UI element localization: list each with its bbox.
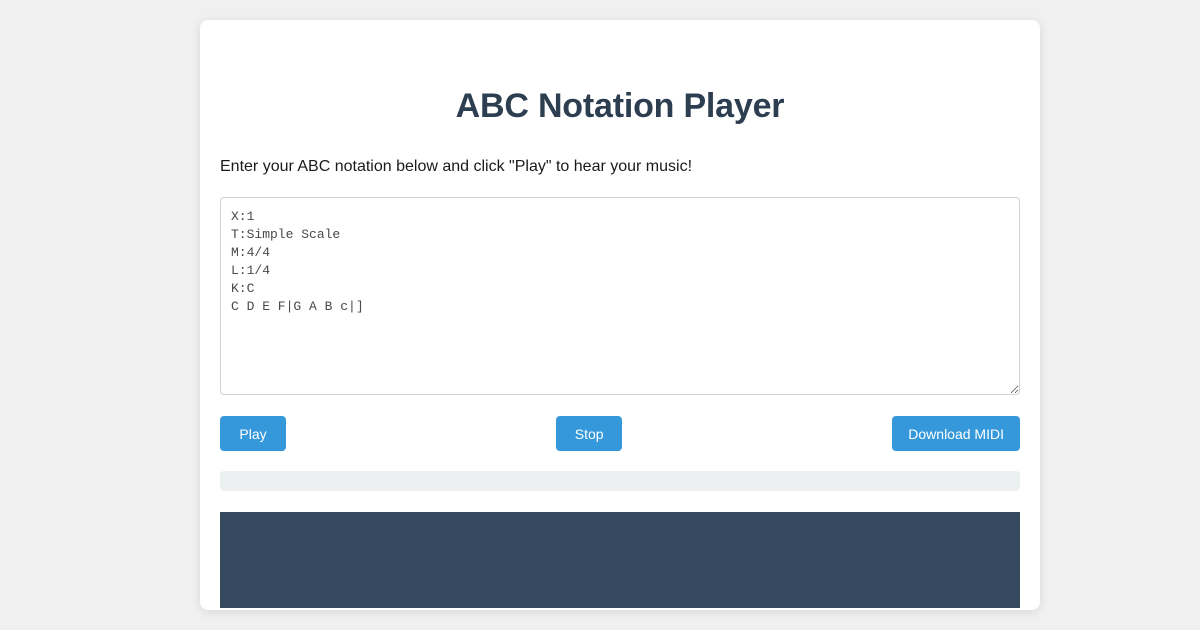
download-midi-button[interactable]: Download MIDI (892, 416, 1020, 451)
instruction-text: Enter your ABC notation below and click … (220, 157, 1020, 177)
play-button[interactable]: Play (220, 416, 286, 451)
page-title: ABC Notation Player (220, 86, 1020, 126)
notation-render-panel (220, 512, 1020, 608)
status-bar (220, 471, 1020, 491)
control-buttons: Play Stop Download MIDI (220, 416, 1020, 451)
abc-notation-input[interactable] (220, 197, 1020, 395)
stop-button[interactable]: Stop (556, 416, 622, 451)
app-page: ABC Notation Player Enter your ABC notat… (0, 0, 1200, 630)
app-card: ABC Notation Player Enter your ABC notat… (200, 20, 1040, 610)
